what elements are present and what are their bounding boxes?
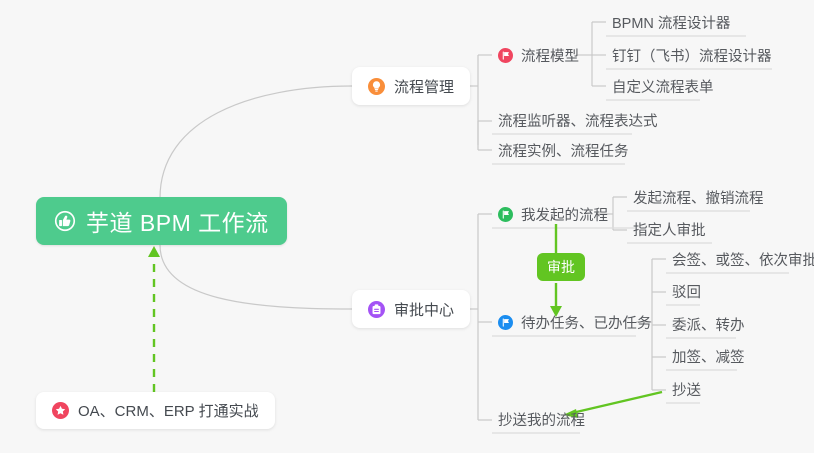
star-icon [52,402,69,419]
leaf-node-process-instance[interactable]: 流程实例、流程任务 [492,136,635,164]
thumbs-up-icon [54,210,76,232]
leaf-label: 指定人审批 [633,219,706,240]
leaf-node-bpmn-designer[interactable]: BPMN 流程设计器 [606,8,736,36]
approval-tag-label: 审批 [547,257,575,277]
leaf-label: 会签、或签、依次审批 [672,249,814,270]
leaf-label: 委派、转办 [672,314,745,335]
leaf-label: 待办任务、已办任务 [521,312,652,333]
bottom-node-label: OA、CRM、ERP 打通实战 [78,400,259,421]
leaf-node-add-remove-sign[interactable]: 加签、减签 [666,342,751,370]
flag-icon [498,315,513,330]
leaf-node-cc-to-me[interactable]: 抄送我的流程 [492,405,591,433]
leaf-node-reject[interactable]: 驳回 [666,277,707,305]
mindmap-canvas: 芋道 BPM 工作流 流程管理 流程模型 BPMN 流程设计器 钉钉（飞书）流程 [0,0,814,453]
leaf-node-process-model[interactable]: 流程模型 [492,41,585,69]
branch-label: 流程管理 [394,76,454,97]
leaf-node-my-initiated-process[interactable]: 我发起的流程 [492,200,614,228]
leaf-label: 自定义流程表单 [612,76,714,97]
leaf-label: BPMN 流程设计器 [612,12,730,33]
leaf-node-start-cancel-process[interactable]: 发起流程、撤销流程 [627,183,770,211]
flag-icon [498,207,513,222]
leaf-node-todo-done-tasks[interactable]: 待办任务、已办任务 [492,308,658,336]
leaf-label: 流程模型 [521,45,579,66]
root-node[interactable]: 芋道 BPM 工作流 [36,197,287,245]
flag-icon [498,48,513,63]
leaf-label: 抄送 [672,379,701,400]
branch-label: 审批中心 [394,299,454,320]
leaf-label: 发起流程、撤销流程 [633,187,764,208]
arrowhead-up [148,246,160,257]
clipboard-icon [368,301,385,318]
leaf-node-dingtalk-designer[interactable]: 钉钉（飞书）流程设计器 [606,41,778,69]
leaf-node-delegate-transfer[interactable]: 委派、转办 [666,310,751,338]
leaf-label: 流程实例、流程任务 [498,140,629,161]
bottom-node-integration[interactable]: OA、CRM、ERP 打通实战 [36,392,275,429]
leaf-node-custom-form[interactable]: 自定义流程表单 [606,72,720,100]
leaf-node-assigned-approval[interactable]: 指定人审批 [627,215,712,243]
leaf-label: 抄送我的流程 [498,409,585,430]
root-label: 芋道 BPM 工作流 [86,204,269,238]
leaf-label: 加签、减签 [672,346,745,367]
leaf-label: 我发起的流程 [521,204,608,225]
lightbulb-icon [368,78,385,95]
approval-tag: 审批 [537,253,585,281]
branch-node-approval-center[interactable]: 审批中心 [352,290,470,328]
leaf-label: 钉钉（飞书）流程设计器 [612,45,772,66]
leaf-node-cc[interactable]: 抄送 [666,375,707,403]
branch-node-process-management[interactable]: 流程管理 [352,67,470,105]
leaf-label: 驳回 [672,281,701,302]
leaf-node-countersign[interactable]: 会签、或签、依次审批 [666,245,814,273]
leaf-label: 流程监听器、流程表达式 [498,110,658,131]
leaf-node-process-listener[interactable]: 流程监听器、流程表达式 [492,106,664,134]
